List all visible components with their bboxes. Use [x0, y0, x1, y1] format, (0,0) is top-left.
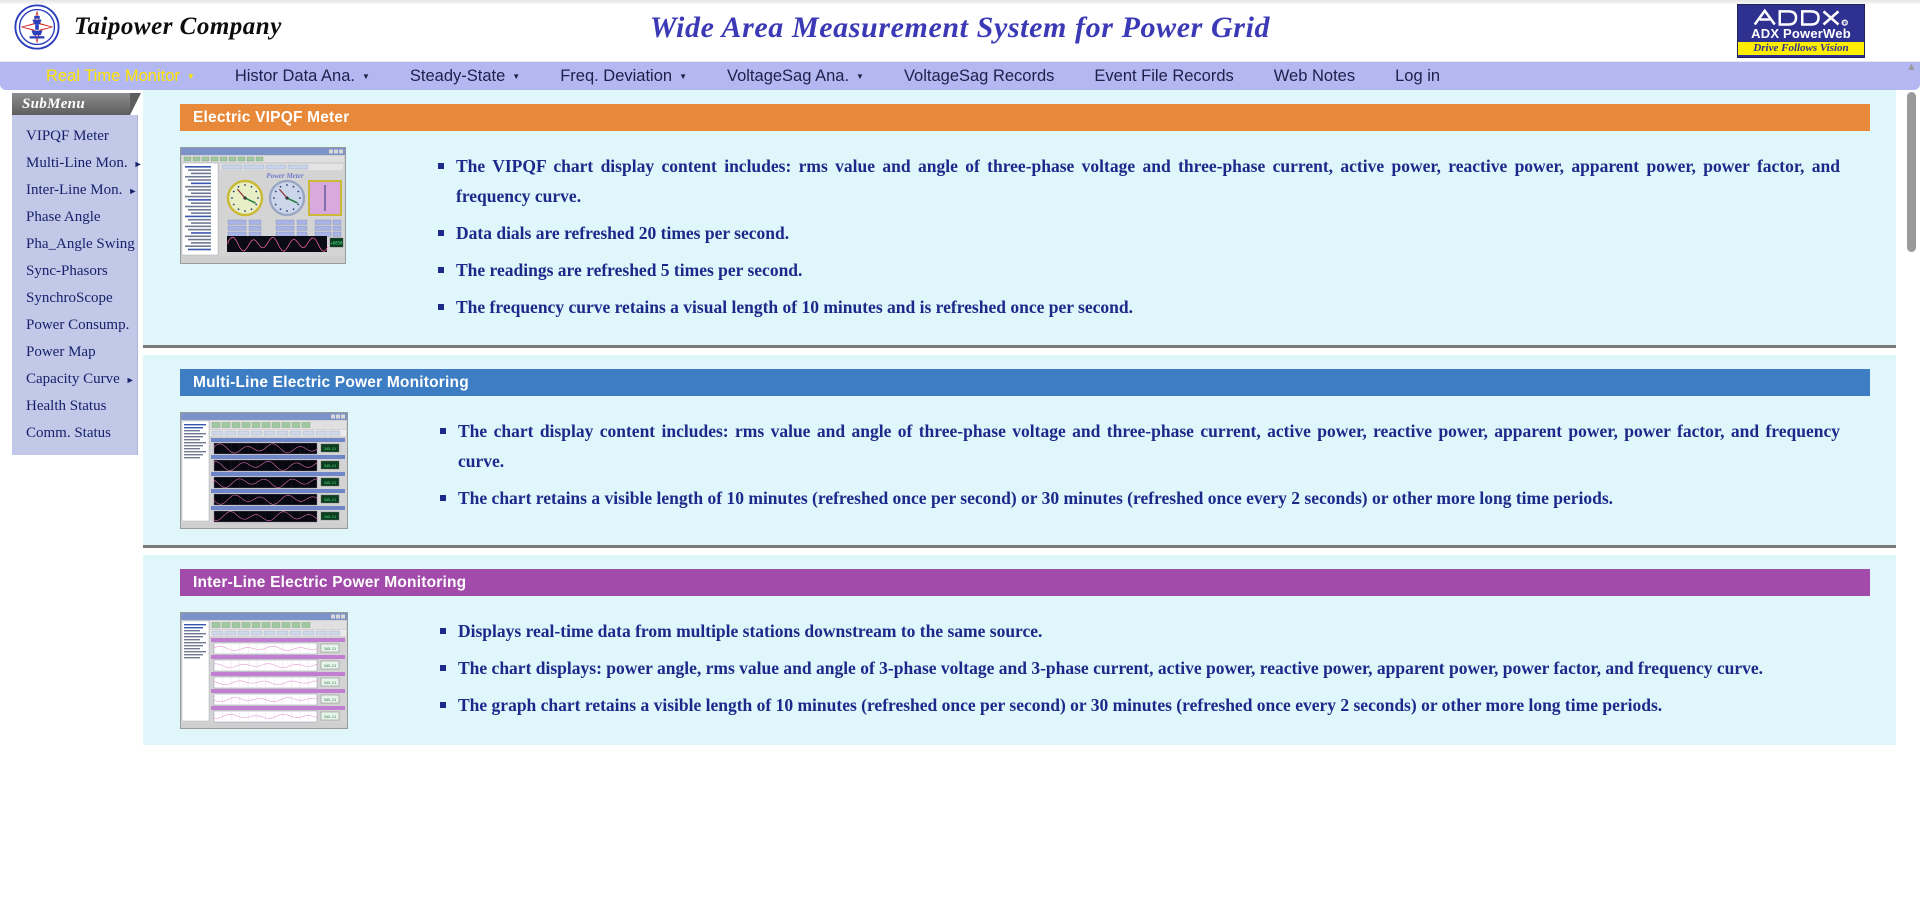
- submenu-header: SubMenu: [12, 93, 130, 115]
- page-body: SubMenu VIPQF MeterMulti-Line Mon.►Inter…: [0, 90, 1920, 901]
- section-electric-vipqf-meter: Electric VIPQF Meter Power Meter+6850The…: [143, 90, 1896, 345]
- chevron-right-icon: ►: [126, 375, 135, 385]
- brand-area[interactable]: Taipower Company: [14, 4, 282, 50]
- content-column: Electric VIPQF Meter Power Meter+6850The…: [143, 90, 1896, 901]
- sidebar-item-label: Sync-Phasors: [26, 263, 108, 280]
- section-inter-line-electric-power-monitoring: Inter-Line Electric Power Monitoring 345…: [143, 555, 1896, 745]
- section-title: Electric VIPQF Meter: [193, 109, 349, 127]
- thumbnail-electric-vipqf-meter[interactable]: Power Meter+6850: [180, 147, 346, 264]
- section-title: Inter-Line Electric Power Monitoring: [193, 574, 466, 592]
- scroll-up-arrow-icon[interactable]: ▲: [1906, 62, 1917, 73]
- sidebar-item-health-status[interactable]: Health Status: [12, 393, 137, 420]
- sidebar-item-label: Comm. Status: [26, 425, 111, 442]
- submenu-title: SubMenu: [22, 96, 85, 113]
- sidebar-item-label: Power Consump.: [26, 317, 129, 334]
- section-body: 345.21345.21345.21345.21345.21The chart …: [143, 396, 1896, 529]
- section-body: Power Meter+6850The VIPQF chart display …: [143, 131, 1896, 329]
- sidebar-item-label: Health Status: [26, 398, 106, 415]
- thumbnail-multi-line-electric-power-monitoring[interactable]: 345.21345.21345.21345.21345.21: [180, 412, 348, 529]
- section-gap: [143, 348, 1896, 355]
- nav-item-histor-data-ana[interactable]: Histor Data Ana.▼: [215, 62, 390, 90]
- sidebar-item-pha-angle-swing[interactable]: Pha_Angle Swing: [12, 231, 137, 258]
- sidebar-item-label: SynchroScope: [26, 290, 113, 307]
- nav-item-real-time-monitor[interactable]: Real Time Monitor▼: [26, 62, 215, 90]
- nav-item-label: Log in: [1395, 62, 1440, 90]
- nav-item-log-in[interactable]: Log in: [1375, 62, 1460, 90]
- svg-text:345.21: 345.21: [324, 498, 336, 502]
- svg-text:+6850: +6850: [330, 241, 343, 246]
- company-name: Taipower Company: [74, 13, 282, 41]
- bullet-item: The chart display content includes: rms …: [440, 416, 1840, 476]
- bullet-item: The VIPQF chart display content includes…: [438, 151, 1840, 211]
- sidebar-item-power-consump[interactable]: Power Consump.: [12, 312, 137, 339]
- adx-product-name: ADX PowerWeb: [1751, 27, 1851, 41]
- bullet-item: The chart retains a visible length of 10…: [440, 483, 1840, 513]
- sidebar-item-phase-angle[interactable]: Phase Angle: [12, 204, 137, 231]
- bullet-item: The frequency curve retains a visual len…: [438, 292, 1840, 322]
- inter-line-monitoring-thumbnail-svg: 345.21345.21345.21345.21345.21: [181, 613, 347, 723]
- scrollbar-thumb[interactable]: [1907, 92, 1916, 252]
- bullet-list: The VIPQF chart display content includes…: [438, 147, 1840, 329]
- nav-item-voltagesag-records[interactable]: VoltageSag Records: [884, 62, 1074, 90]
- chevron-down-icon: ▼: [362, 73, 370, 81]
- section-body: 345.21345.21345.21345.21345.21Displays r…: [143, 596, 1896, 729]
- sidebar-item-vipqf-meter[interactable]: VIPQF Meter: [12, 123, 137, 150]
- chevron-right-icon: ►: [134, 159, 143, 169]
- section-header-inter-line-electric-power-monitoring: Inter-Line Electric Power Monitoring: [180, 569, 1870, 596]
- nav-item-event-file-records[interactable]: Event File Records: [1074, 62, 1253, 90]
- svg-text:345.21: 345.21: [324, 515, 336, 519]
- vertical-scrollbar[interactable]: ▲: [1903, 90, 1920, 901]
- svg-text:345.21: 345.21: [324, 464, 336, 468]
- nav-item-label: Event File Records: [1094, 62, 1233, 90]
- page-title: Wide Area Measurement System for Power G…: [0, 11, 1920, 45]
- svg-text:345.21: 345.21: [324, 447, 336, 451]
- sidebar-item-sync-phasors[interactable]: Sync-Phasors: [12, 258, 137, 285]
- adx-powerweb-logo[interactable]: R ADX PowerWeb Drive Follows Vision: [1737, 4, 1865, 58]
- chevron-down-icon: ▼: [187, 73, 195, 81]
- nav-item-voltagesag-ana[interactable]: VoltageSag Ana.▼: [707, 62, 884, 90]
- bullet-list: Displays real-time data from multiple st…: [440, 612, 1840, 727]
- sidebar-item-capacity-curve[interactable]: Capacity Curve►: [12, 366, 137, 393]
- svg-text:345.21: 345.21: [324, 647, 336, 651]
- nav-item-label: Web Notes: [1274, 62, 1355, 90]
- sidebar-item-label: Power Map: [26, 344, 96, 361]
- sidebar-item-inter-line-mon[interactable]: Inter-Line Mon.►: [12, 177, 137, 204]
- svg-text:345.21: 345.21: [324, 681, 336, 685]
- section-gap: [143, 548, 1896, 555]
- sidebar-item-label: Pha_Angle Swing: [26, 236, 135, 253]
- sidebar-item-label: VIPQF Meter: [26, 128, 109, 145]
- sidebar-item-multi-line-mon[interactable]: Multi-Line Mon.►: [12, 150, 137, 177]
- adx-wordmark-icon: R: [1749, 7, 1853, 27]
- main-navigation[interactable]: Real Time Monitor▼Histor Data Ana.▼Stead…: [0, 62, 1920, 90]
- svg-text:R: R: [1843, 21, 1846, 26]
- svg-text:345.21: 345.21: [324, 715, 336, 719]
- chevron-down-icon: ▼: [856, 73, 864, 81]
- bullet-item: The chart displays: power angle, rms val…: [440, 653, 1840, 683]
- sidebar-item-synchroscope[interactable]: SynchroScope: [12, 285, 137, 312]
- bullet-item: The readings are refreshed 5 times per s…: [438, 255, 1840, 285]
- sidebar-item-label: Inter-Line Mon.: [26, 182, 122, 199]
- chevron-right-icon: ►: [128, 186, 137, 196]
- svg-text:345.21: 345.21: [324, 698, 336, 702]
- section-title: Multi-Line Electric Power Monitoring: [193, 374, 469, 392]
- sidebar-item-comm-status[interactable]: Comm. Status: [12, 420, 137, 447]
- svg-text:Power Meter: Power Meter: [266, 172, 303, 180]
- svg-text:345.21: 345.21: [324, 481, 336, 485]
- nav-item-freq-deviation[interactable]: Freq. Deviation▼: [540, 62, 707, 90]
- adx-tagline: Drive Follows Vision: [1738, 42, 1864, 55]
- svg-text:345.21: 345.21: [324, 664, 336, 668]
- multi-line-monitoring-thumbnail-svg: 345.21345.21345.21345.21345.21: [181, 413, 347, 523]
- nav-item-label: Real Time Monitor: [46, 62, 180, 90]
- sidebar-item-label: Multi-Line Mon.: [26, 155, 128, 172]
- nav-item-label: VoltageSag Records: [904, 62, 1054, 90]
- bullet-list: The chart display content includes: rms …: [440, 412, 1840, 520]
- taipower-tower-logo-icon: [14, 4, 60, 50]
- sidebar: SubMenu VIPQF MeterMulti-Line Mon.►Inter…: [12, 93, 138, 455]
- sidebar-item-power-map[interactable]: Power Map: [12, 339, 137, 366]
- bullet-item: Displays real-time data from multiple st…: [440, 616, 1840, 646]
- page-banner: Taipower Company Wide Area Measurement S…: [0, 0, 1920, 62]
- section-multi-line-electric-power-monitoring: Multi-Line Electric Power Monitoring 345…: [143, 355, 1896, 545]
- taipower-logo-svg: [14, 4, 60, 50]
- chevron-down-icon: ▼: [512, 73, 520, 81]
- vipqf-meter-thumbnail-svg: Power Meter+6850: [181, 148, 345, 258]
- nav-item-label: Freq. Deviation: [560, 62, 672, 90]
- banner-top-gradient: [0, 0, 1920, 4]
- bullet-item: The graph chart retains a visible length…: [440, 690, 1840, 720]
- nav-item-label: Steady-State: [410, 62, 505, 90]
- nav-item-steady-state[interactable]: Steady-State▼: [390, 62, 540, 90]
- left-edge-strip: [0, 90, 12, 901]
- nav-item-label: Histor Data Ana.: [235, 62, 355, 90]
- sidebar-item-label: Capacity Curve: [26, 371, 120, 388]
- submenu-list[interactable]: VIPQF MeterMulti-Line Mon.►Inter-Line Mo…: [12, 115, 138, 455]
- section-header-multi-line-electric-power-monitoring: Multi-Line Electric Power Monitoring: [180, 369, 1870, 396]
- section-header-electric-vipqf-meter: Electric VIPQF Meter: [180, 104, 1870, 131]
- nav-item-label: VoltageSag Ana.: [727, 62, 849, 90]
- sidebar-item-label: Phase Angle: [26, 209, 101, 226]
- thumbnail-inter-line-electric-power-monitoring[interactable]: 345.21345.21345.21345.21345.21: [180, 612, 348, 729]
- nav-item-web-notes[interactable]: Web Notes: [1254, 62, 1375, 90]
- chevron-down-icon: ▼: [679, 73, 687, 81]
- bullet-item: Data dials are refreshed 20 times per se…: [438, 218, 1840, 248]
